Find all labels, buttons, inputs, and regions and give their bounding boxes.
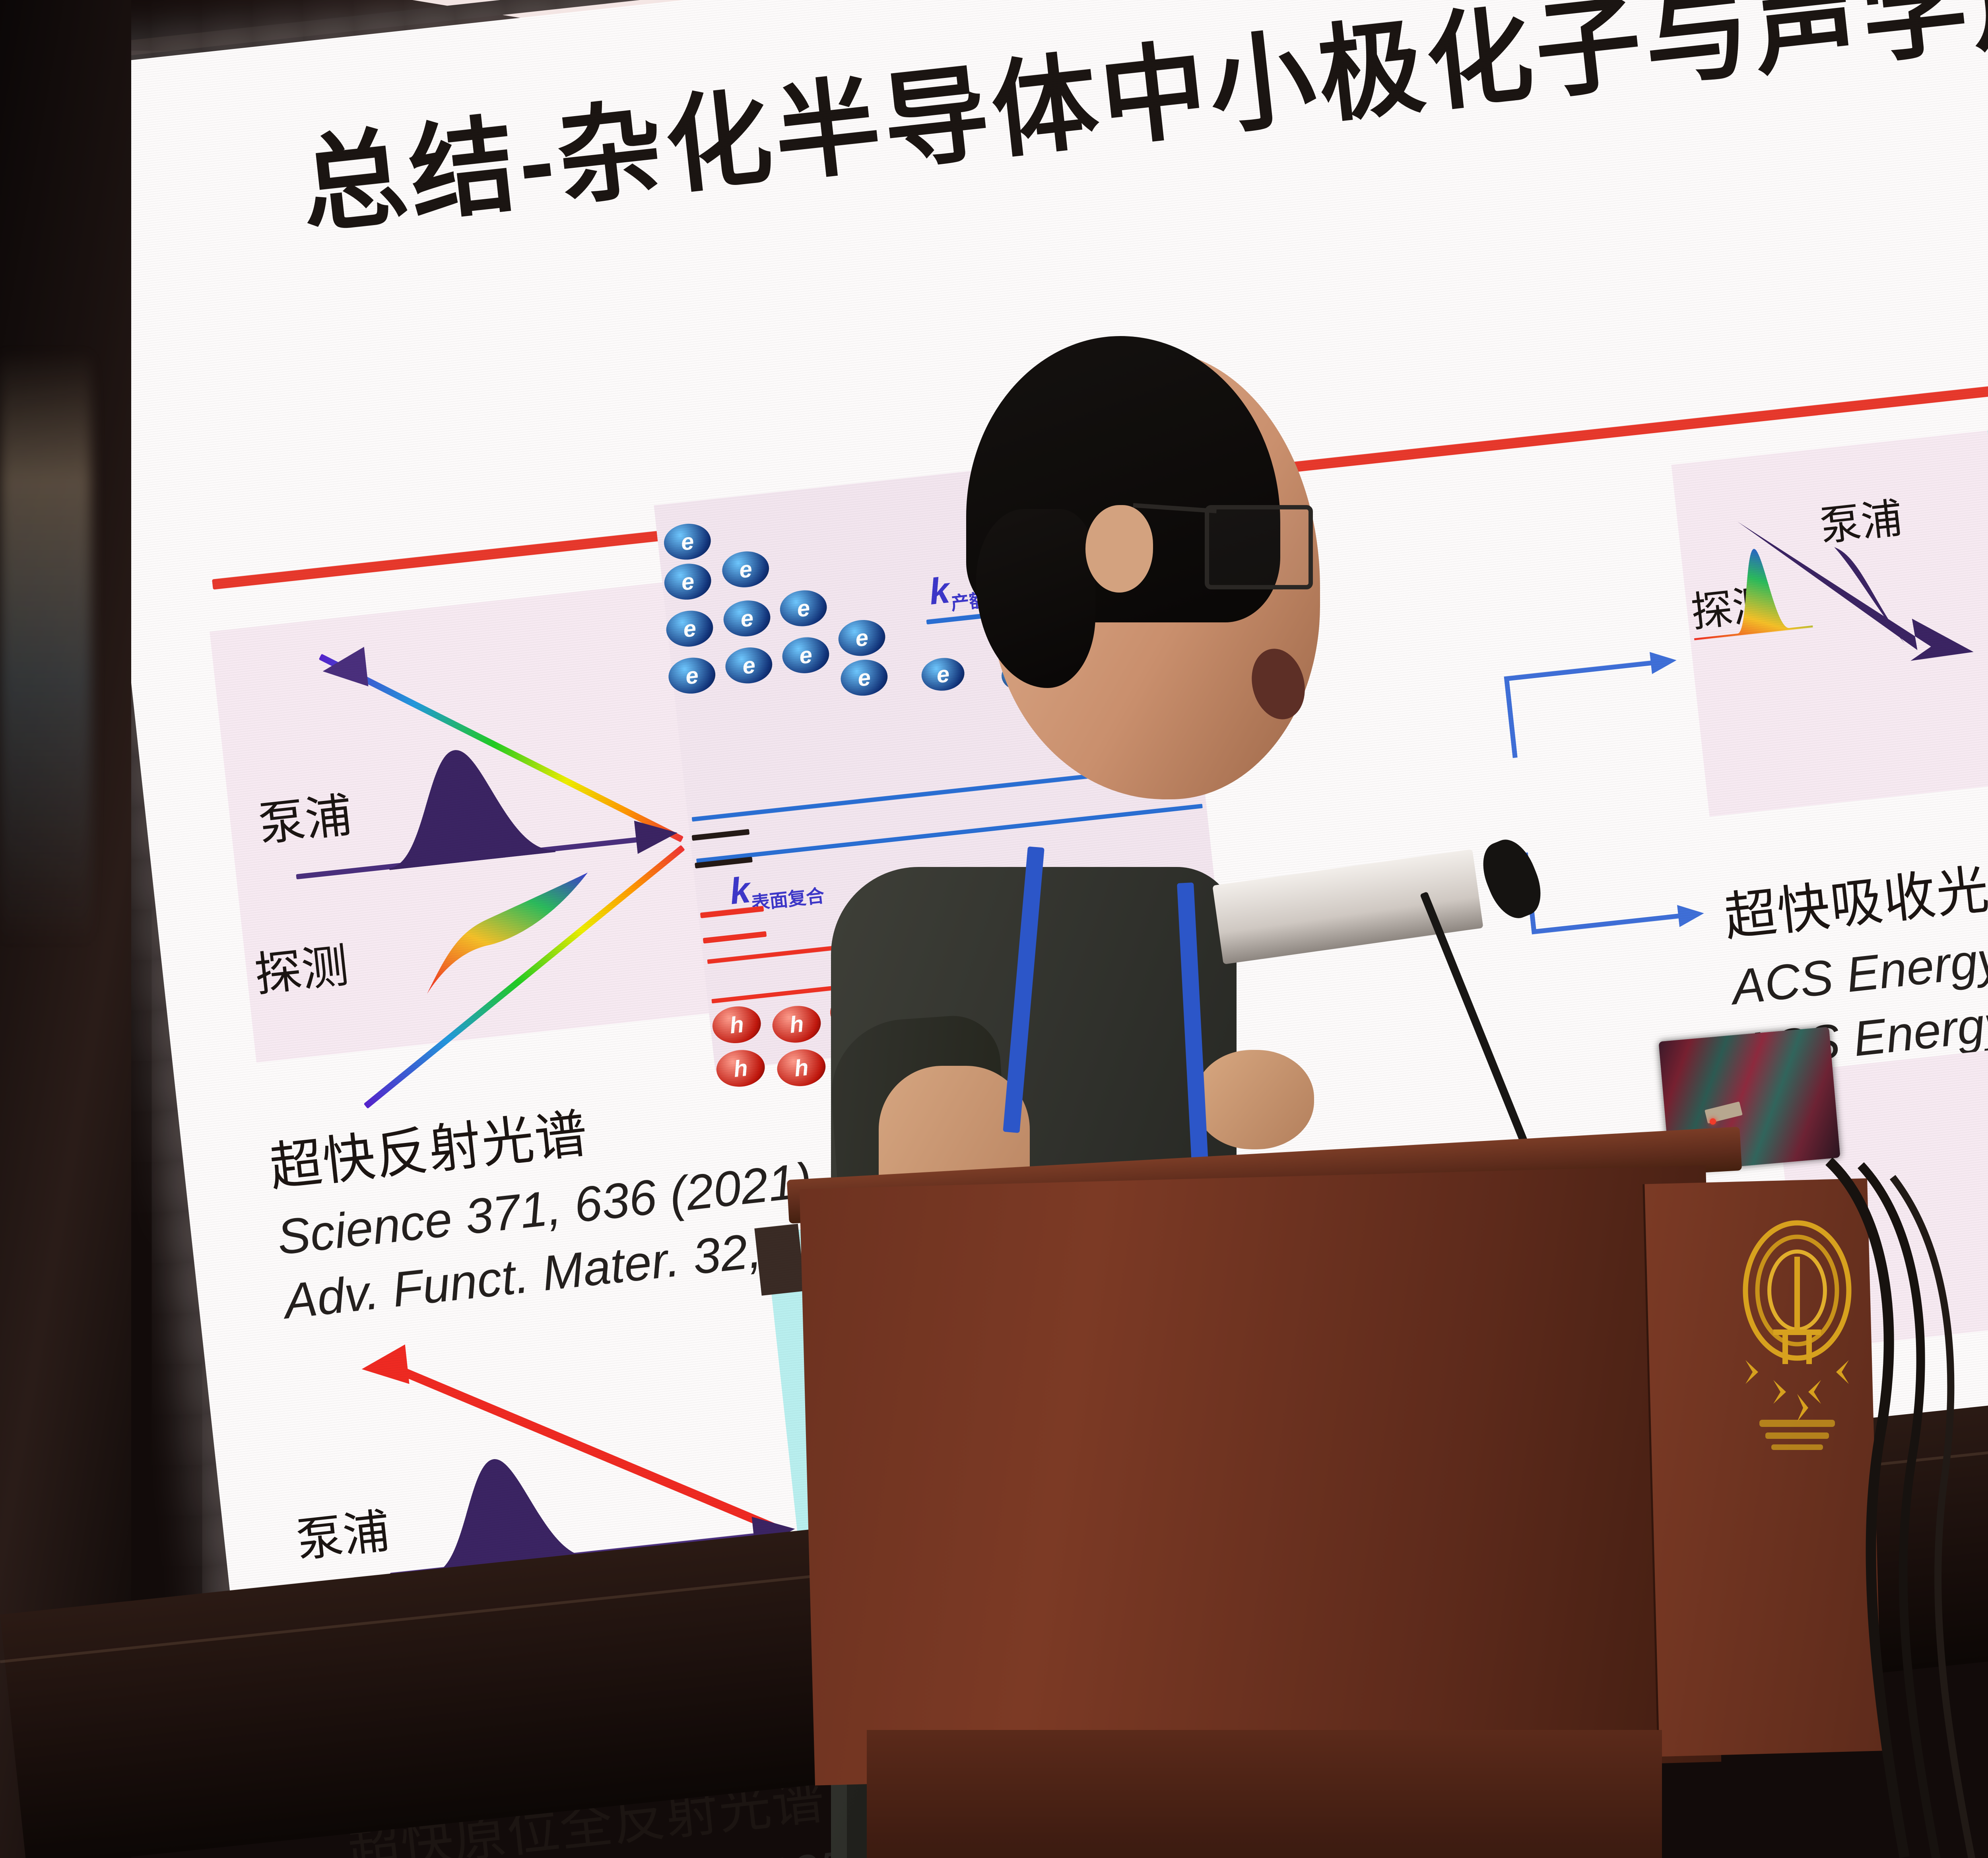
cable-bundle [1813, 1153, 1988, 1858]
probe-pulse-fan [384, 871, 601, 1000]
arrow-pump [634, 816, 679, 854]
flow-connector-arrows [1485, 605, 1781, 989]
speaker-ear [1085, 505, 1153, 593]
label-pump: 泵浦 [254, 777, 355, 854]
left-wall-reflection [0, 350, 91, 946]
label-probe: 探测 [251, 927, 351, 1005]
presentation-scene: 总结-杂化半导体中小极化子与声学声子 泵浦 探测 [0, 0, 1988, 1858]
pump-pulse-gaussian [377, 733, 555, 870]
electrode-top [754, 1224, 805, 1296]
glasses-lens [1205, 505, 1313, 589]
podium-base [867, 1730, 1662, 1858]
arrow-reflected-out [320, 647, 368, 691]
k-symbol: k [728, 869, 752, 912]
k-symbol: k [927, 570, 952, 612]
arrow-probe-out [359, 1345, 409, 1389]
speaker-hand [1195, 1050, 1314, 1149]
slide-title: 总结-杂化半导体中小极化子与声学声子 [292, 0, 1988, 254]
laptop-power-led [1710, 1118, 1716, 1125]
label-pump-atr: 泵浦 [292, 1493, 393, 1570]
podium-body [800, 1165, 1721, 1785]
